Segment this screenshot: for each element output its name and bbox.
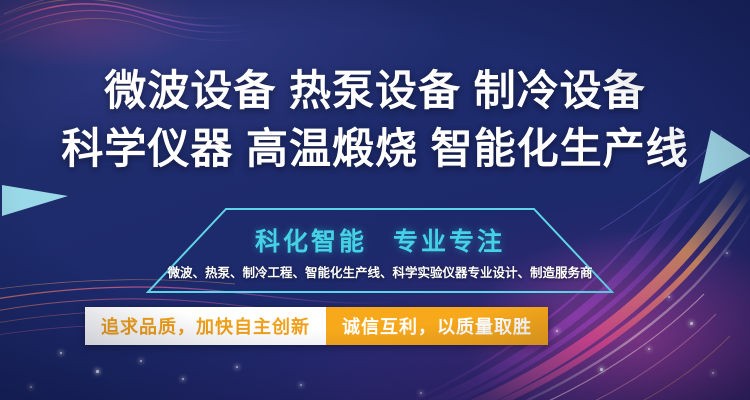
headline-line-1: 微波设备 热泵设备 制冷设备: [0, 62, 750, 120]
left-arrow-icon: [0, 180, 72, 220]
ribbon-left-text: 追求品质，加快自主创新: [85, 307, 326, 345]
page-title: 微波设备 热泵设备 制冷设备 科学仪器 高温煅烧 智能化生产线: [0, 62, 750, 178]
headline-line-2: 科学仪器 高温煅烧 智能化生产线: [0, 120, 750, 178]
promotional-banner: 微波设备 热泵设备 制冷设备 科学仪器 高温煅烧 智能化生产线 科化智能专业专注…: [0, 0, 750, 400]
slogan-subtitle: 微波、热泵、制冷工程、智能化生产线、科学实验仪器专业设计、制造服务商: [122, 262, 638, 281]
ribbon-bar: 追求品质，加快自主创新 诚信互利，以质量取胜: [85, 307, 548, 345]
ribbon-right-text: 诚信互利，以质量取胜: [326, 307, 548, 345]
slogan-part-1: 科化智能: [255, 228, 367, 256]
slogan-main: 科化智能专业专注: [140, 222, 620, 258]
slogan-frame: 科化智能专业专注 微波、热泵、制冷工程、智能化生产线、科学实验仪器专业设计、制造…: [140, 200, 620, 295]
slogan-part-2: 专业专注: [393, 228, 505, 256]
